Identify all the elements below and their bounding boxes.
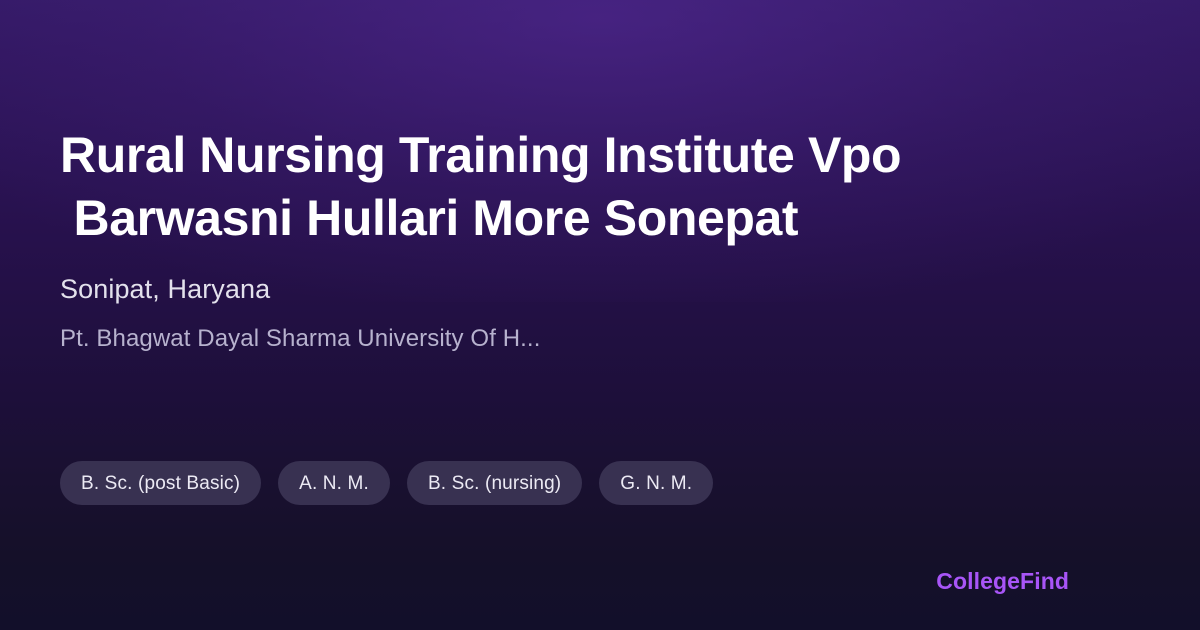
course-pill[interactable]: B. Sc. (nursing) <box>407 461 582 505</box>
brand-logo-text: CollegeFind <box>936 568 1069 595</box>
title-block: Rural Nursing Training Institute Vpo Bar… <box>60 124 1140 354</box>
course-pill[interactable]: B. Sc. (post Basic) <box>60 461 261 505</box>
course-pill[interactable]: G. N. M. <box>599 461 713 505</box>
card-content: Rural Nursing Training Institute Vpo Bar… <box>0 0 1200 630</box>
course-pill[interactable]: A. N. M. <box>278 461 390 505</box>
page-title: Rural Nursing Training Institute Vpo Bar… <box>60 124 1060 250</box>
og-share-card: Rural Nursing Training Institute Vpo Bar… <box>0 0 1200 630</box>
college-location: Sonipat, Haryana <box>60 273 1140 305</box>
course-pill-list: B. Sc. (post Basic) A. N. M. B. Sc. (nur… <box>60 461 713 505</box>
college-affiliation: Pt. Bhagwat Dayal Sharma University Of H… <box>60 324 1060 354</box>
